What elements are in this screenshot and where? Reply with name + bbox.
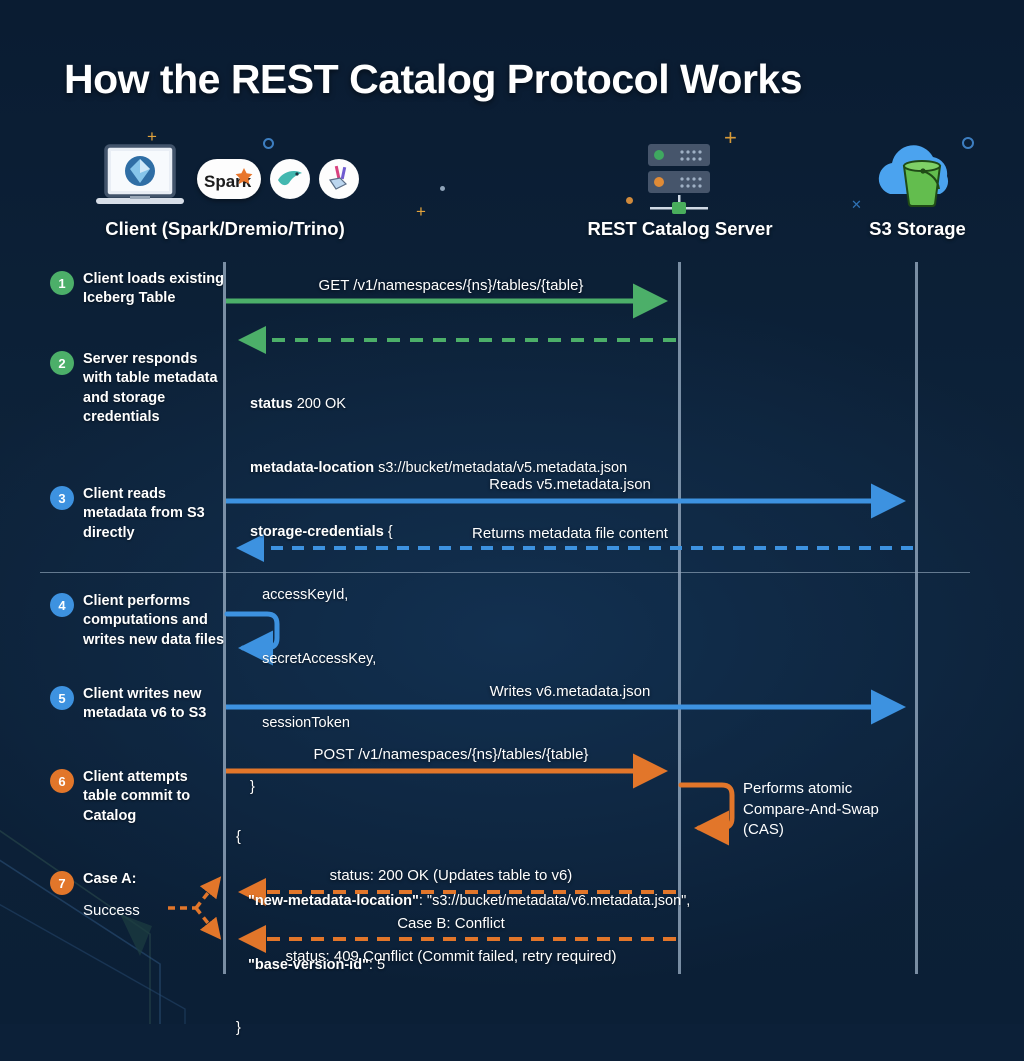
trino-logo [319, 159, 359, 199]
actor-client: Spark Client (Spark/Dremio/Trino) [60, 140, 390, 240]
s3-icon-row [815, 140, 1020, 218]
spark-logo: Spark [197, 159, 261, 199]
commit-close-brace: } [236, 1018, 690, 1039]
cloud-bucket-icon [866, 140, 970, 218]
commit-val-base-version-id: : 5 [369, 957, 385, 973]
message-get-request: GET /v1/namespaces/{ns}/tables/{table} [226, 277, 676, 294]
dremio-logo [270, 159, 310, 199]
step-7: 7 Case A: Success [50, 870, 225, 919]
step-4: 4 Client performs computations and write… [50, 592, 225, 650]
step-6: 6 Client attempts table commit to Catalo… [50, 768, 225, 826]
step-3: 3 Client reads metadata from S3 directly [50, 485, 225, 543]
commit-open-brace: { [236, 827, 690, 848]
payload-access-key-id: accessKeyId, [250, 585, 627, 606]
step-label-2: Server responds with table metadata and … [83, 350, 225, 427]
response-payload: status 200 OK metadata-location s3://buc… [250, 351, 627, 820]
step-badge-7: 7 [50, 871, 74, 895]
page-title: How the REST Catalog Protocol Works [64, 56, 802, 103]
step-label-4: Client performs computations and writes … [83, 592, 225, 650]
step-badge-6: 6 [50, 769, 74, 793]
commit-key-base-version-id: "base-version-id" [248, 957, 369, 973]
step-1: 1 Client loads existing Iceberg Table [50, 270, 225, 309]
step-2: 2 Server responds with table metadata an… [50, 350, 225, 427]
step-badge-4: 4 [50, 593, 74, 617]
payload-val-location: s3://bucket/metadata/v5.metadata.json [374, 460, 627, 476]
step-badge-3: 3 [50, 486, 74, 510]
actor-s3-label: S3 Storage [815, 218, 1020, 240]
step-sublabel-7: Success [83, 902, 140, 919]
payload-val-status: 200 OK [293, 396, 346, 412]
actor-server: REST Catalog Server [545, 140, 815, 240]
actor-server-label: REST Catalog Server [545, 218, 815, 240]
step-label-1: Client loads existing Iceberg Table [83, 270, 225, 309]
payload-val-credentials: { [384, 524, 393, 540]
client-icon-row: Spark [60, 140, 390, 218]
step-label-7: Case A: [83, 870, 140, 889]
commit-payload: { "new-metadata-location": "s3://bucket/… [236, 784, 690, 1061]
actor-client-label: Client (Spark/Dremio/Trino) [60, 218, 390, 240]
step-label-6: Client attempts table commit to Catalog [83, 768, 225, 826]
note-cas: Performs atomic Compare-And-Swap (CAS) [743, 779, 883, 841]
commit-val-new-metadata-location: : "s3://bucket/metadata/v6.metadata.json… [419, 893, 690, 909]
step-badge-5: 5 [50, 686, 74, 710]
payload-session-token: sessionToken [250, 713, 627, 734]
payload-key-credentials: storage-credentials [250, 524, 384, 540]
server-rack-icon [634, 140, 726, 218]
server-icon-row [545, 140, 815, 218]
payload-secret-access-key: secretAccessKey, [250, 649, 627, 670]
payload-key-status: status [250, 396, 293, 412]
step-label-3: Client reads metadata from S3 directly [83, 485, 225, 543]
laptop-iceberg-icon [92, 142, 188, 216]
step-5: 5 Client writes new metadata v6 to S3 [50, 685, 225, 724]
commit-key-new-metadata-location: "new-metadata-location" [248, 893, 419, 909]
step-badge-1: 1 [50, 271, 74, 295]
step-label-5: Client writes new metadata v6 to S3 [83, 685, 225, 724]
step-badge-2: 2 [50, 351, 74, 375]
payload-key-location: metadata-location [250, 460, 374, 476]
lifeline-s3 [915, 262, 918, 974]
actor-s3: S3 Storage [815, 140, 1020, 240]
